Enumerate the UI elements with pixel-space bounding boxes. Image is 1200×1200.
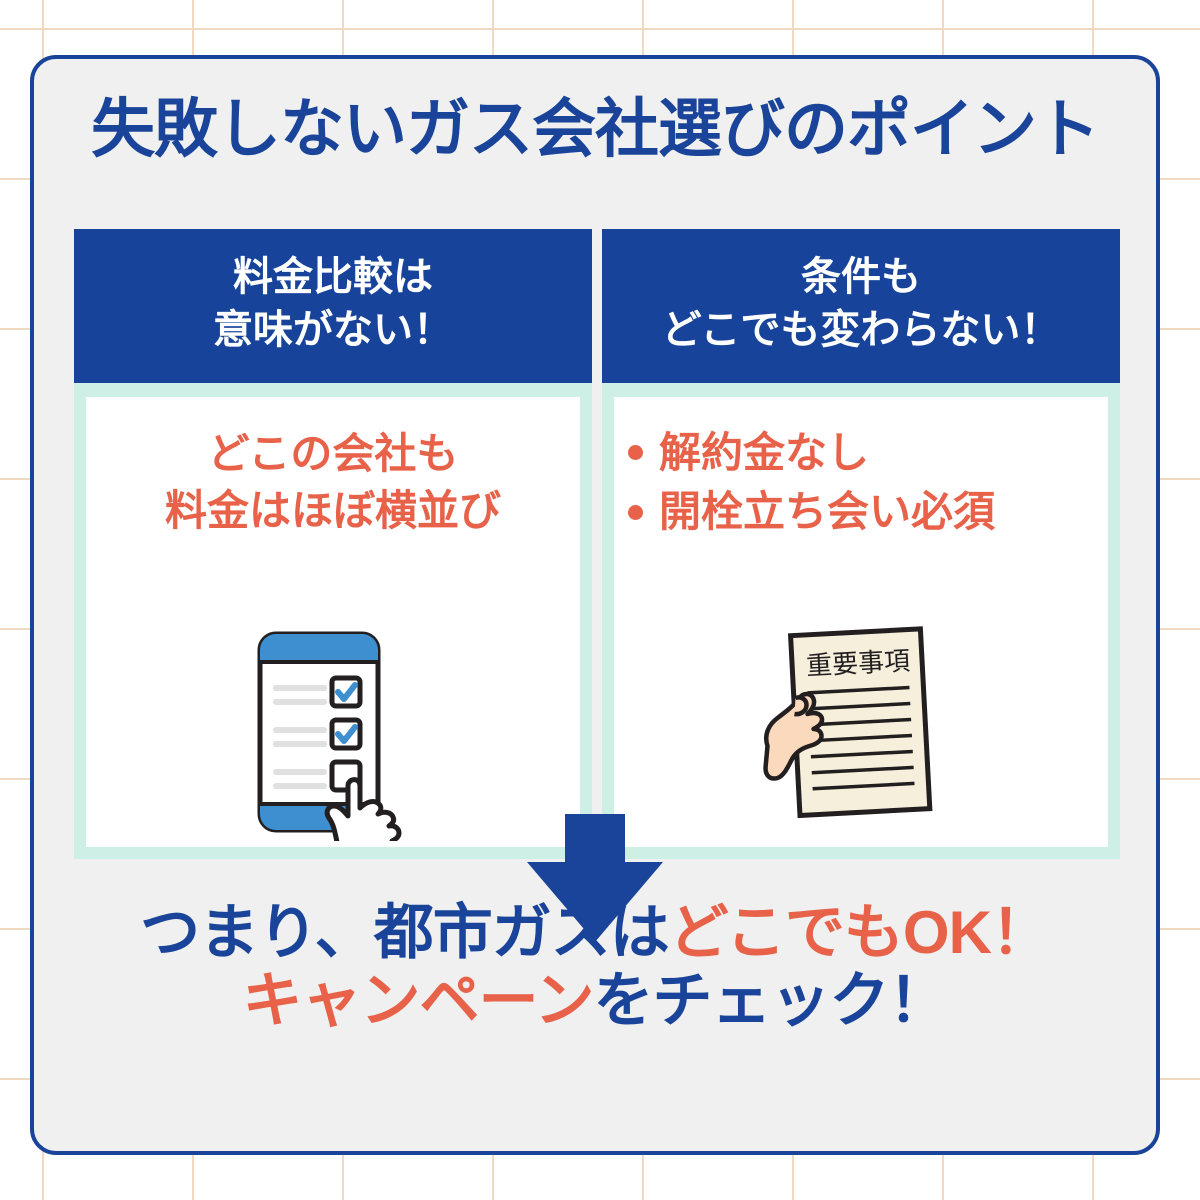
panel-header-conditions-line1: 条件も xyxy=(608,251,1114,304)
down-arrow-icon xyxy=(525,814,665,944)
panel-body-conditions: 解約金なし 開栓立ち会い必須 xyxy=(602,383,1120,859)
bullet-dot-icon xyxy=(628,505,643,520)
panel-body-price: どこの会社も 料金はほぼ横並び xyxy=(74,383,592,859)
panel-header-price: 料金比較は 意味がない！ xyxy=(74,229,592,383)
conclusion-line1-orange: どこでもOK！ xyxy=(669,899,1050,966)
bullet-text: 開栓立ち会い必須 xyxy=(659,482,995,542)
panel-header-conditions: 条件も どこでも変わらない！ xyxy=(602,229,1120,383)
bullet-text: 解約金なし xyxy=(659,423,869,483)
conclusion-line-2: キャンペーンをチェック！ xyxy=(34,967,1156,1035)
list-item: 開栓立ち会い必須 xyxy=(628,482,995,542)
panel-header-price-line2: 意味がない！ xyxy=(80,304,586,357)
panel-price-text: どこの会社も 料金はほぼ横並び xyxy=(165,425,501,539)
conclusion-line2-navy: をチェック！ xyxy=(594,967,948,1034)
panel-price-text-line1: どこの会社も xyxy=(165,425,501,482)
document-title: 重要事項 xyxy=(805,646,910,681)
panel-header-price-line1: 料金比較は xyxy=(80,251,586,304)
list-item: 解約金なし xyxy=(628,423,995,483)
panel-header-conditions-line2: どこでも変わらない！ xyxy=(608,304,1114,357)
conditions-bullet-list: 解約金なし 開栓立ち会い必須 xyxy=(614,423,995,542)
panel-conditions: 条件も どこでも変わらない！ 解約金なし 開栓立ち会い必須 xyxy=(602,229,1120,859)
page-title: 失敗しないガス会社選びのポイント xyxy=(34,97,1156,161)
panel-price-text-line2: 料金はほぼ横並び xyxy=(165,482,501,539)
conclusion-line2-orange: キャンペーン xyxy=(243,967,594,1034)
bullet-dot-icon xyxy=(628,445,643,460)
hand-holding-document-icon: 重要事項 xyxy=(754,616,969,841)
comparison-panels: 料金比較は 意味がない！ どこの会社も 料金はほぼ横並び xyxy=(74,229,1120,859)
infographic-card: 失敗しないガス会社選びのポイント 料金比較は 意味がない！ どこの会社も 料金は… xyxy=(30,55,1160,1155)
smartphone-checklist-icon xyxy=(228,626,438,841)
panel-price-comparison: 料金比較は 意味がない！ どこの会社も 料金はほぼ横並び xyxy=(74,229,592,859)
